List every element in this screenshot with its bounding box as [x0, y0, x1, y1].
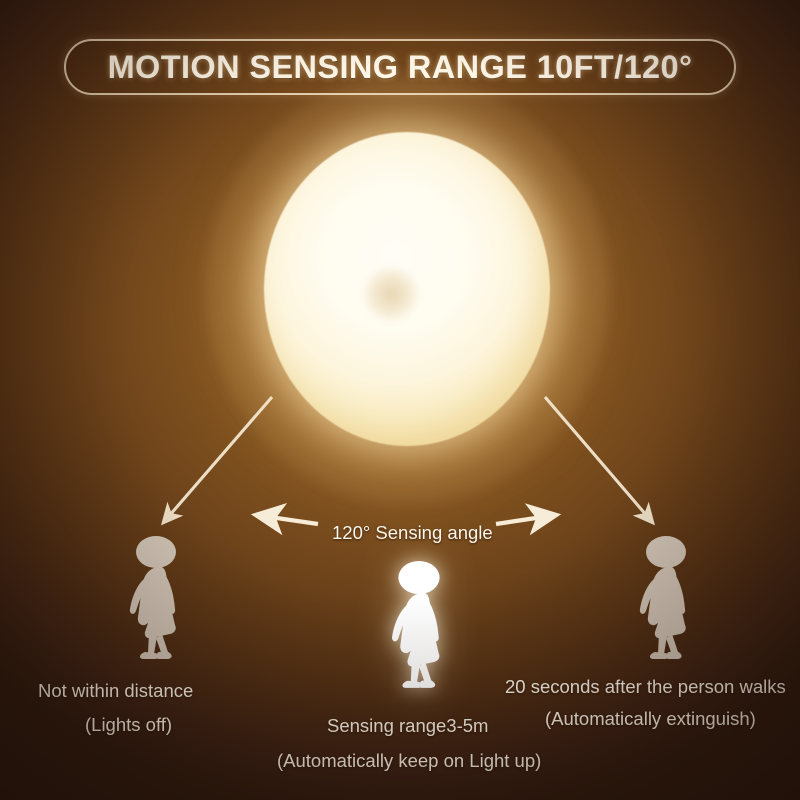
center-scenario-line1: Sensing range3-5m: [327, 715, 488, 737]
page-title: MOTION SENSING RANGE 10FT/120°: [108, 49, 693, 86]
person-walking-dim-icon: [118, 535, 194, 661]
left-scenario-line1: Not within distance: [38, 680, 193, 702]
person-walking-dim-icon: [628, 535, 704, 661]
left-scenario-line2: (Lights off): [85, 714, 172, 736]
right-scenario-line1: 20 seconds after the person walks: [505, 676, 786, 698]
beam-arrow-down-left-icon: [163, 397, 272, 523]
sensing-angle-label: 120° Sensing angle: [332, 522, 493, 544]
beam-arrow-down-right-icon: [545, 397, 653, 523]
arrow-right-icon: [496, 515, 556, 524]
person-walking-lit-icon: [378, 560, 460, 690]
arrow-left-icon: [256, 515, 318, 524]
title-banner: MOTION SENSING RANGE 10FT/120°: [64, 39, 736, 95]
right-scenario-line2: (Automatically extinguish): [545, 708, 756, 730]
pir-sensor-dot-icon: [365, 268, 417, 320]
center-scenario-line2: (Automatically keep on Light up): [277, 750, 541, 772]
product-infographic: 120° Sensing angle Not within distance (…: [0, 0, 800, 800]
